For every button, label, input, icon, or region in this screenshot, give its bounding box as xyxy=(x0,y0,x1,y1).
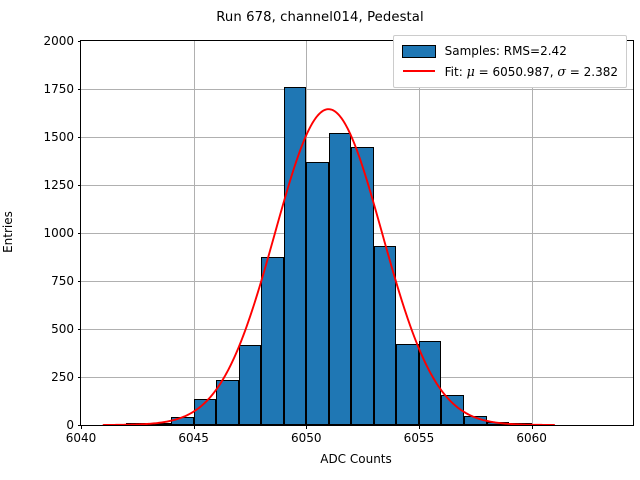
x-tick-mark xyxy=(306,425,307,429)
x-tick-label: 6040 xyxy=(66,431,97,445)
y-tick-label: 2000 xyxy=(43,34,74,48)
legend-line-icon xyxy=(402,64,436,78)
histogram-bar xyxy=(374,246,397,425)
histogram-bar xyxy=(329,133,352,425)
matplotlib-figure: Run 678, channel014, Pedestal Entries AD… xyxy=(0,0,640,480)
x-tick-label: 6045 xyxy=(178,431,209,445)
legend-sigma-symbol: σ xyxy=(557,64,566,79)
histogram-bar xyxy=(239,345,262,425)
y-tick-label: 1250 xyxy=(43,178,74,192)
gridline-vertical xyxy=(532,41,533,425)
histogram-bar xyxy=(126,423,149,425)
histogram-bar xyxy=(441,395,464,425)
histogram-bar xyxy=(261,257,284,425)
histogram-bar xyxy=(284,87,307,425)
chart-title: Run 678, channel014, Pedestal xyxy=(0,10,640,25)
x-tick-mark xyxy=(81,425,82,429)
gridline-horizontal xyxy=(81,89,633,90)
histogram-bar xyxy=(194,399,217,425)
gridline-vertical xyxy=(194,41,195,425)
plot-frame: 025050075010001250150017502000 604060456… xyxy=(80,40,634,426)
legend-label-samples: Samples: RMS=2.42 xyxy=(445,44,567,58)
x-tick-label: 6055 xyxy=(404,431,435,445)
x-tick-mark xyxy=(194,425,195,429)
chart-legend[interactable]: Samples: RMS=2.42 Fit: μ = 6050.987, σ =… xyxy=(393,35,627,88)
y-tick-mark xyxy=(78,329,82,330)
y-tick-mark xyxy=(78,281,82,282)
x-axis-label: ADC Counts xyxy=(80,452,632,466)
y-tick-label: 1750 xyxy=(43,82,74,96)
histogram-bar xyxy=(306,162,329,425)
y-tick-label: 1500 xyxy=(43,130,74,144)
y-tick-mark xyxy=(78,233,82,234)
y-tick-label: 750 xyxy=(51,274,74,288)
legend-label-fit: Fit: μ = 6050.987, σ = 2.382 xyxy=(445,64,618,79)
gridline-horizontal xyxy=(81,137,633,138)
histogram-bar xyxy=(464,416,487,425)
plot-area xyxy=(81,41,633,425)
y-tick-mark xyxy=(78,89,82,90)
x-tick-label: 6050 xyxy=(291,431,322,445)
x-tick-mark xyxy=(532,425,533,429)
legend-fit-prefix: Fit: xyxy=(445,65,467,79)
legend-item-samples[interactable]: Samples: RMS=2.42 xyxy=(402,41,618,61)
histogram-bar xyxy=(216,380,239,425)
y-tick-label: 0 xyxy=(66,418,74,432)
y-tick-label: 1000 xyxy=(43,226,74,240)
histogram-bar xyxy=(396,344,419,425)
histogram-bar xyxy=(171,417,194,425)
legend-mu-symbol: μ xyxy=(467,64,475,79)
y-tick-mark xyxy=(78,185,82,186)
y-tick-mark xyxy=(78,41,82,42)
legend-patch-icon xyxy=(402,45,436,58)
legend-item-fit[interactable]: Fit: μ = 6050.987, σ = 2.382 xyxy=(402,61,618,81)
histogram-bar xyxy=(487,422,510,425)
histogram-bar xyxy=(149,423,172,425)
y-tick-mark xyxy=(78,137,82,138)
y-tick-mark xyxy=(78,377,82,378)
y-tick-label: 250 xyxy=(51,370,74,384)
histogram-bar xyxy=(351,147,374,425)
x-tick-mark xyxy=(419,425,420,429)
y-axis-label: Entries xyxy=(1,211,15,253)
legend-mu-value: = 6050.987, xyxy=(475,65,558,79)
histogram-bar xyxy=(509,423,532,425)
x-tick-label: 6060 xyxy=(516,431,547,445)
legend-sigma-value: = 2.382 xyxy=(566,65,618,79)
histogram-bar xyxy=(419,341,442,425)
y-tick-label: 500 xyxy=(51,322,74,336)
